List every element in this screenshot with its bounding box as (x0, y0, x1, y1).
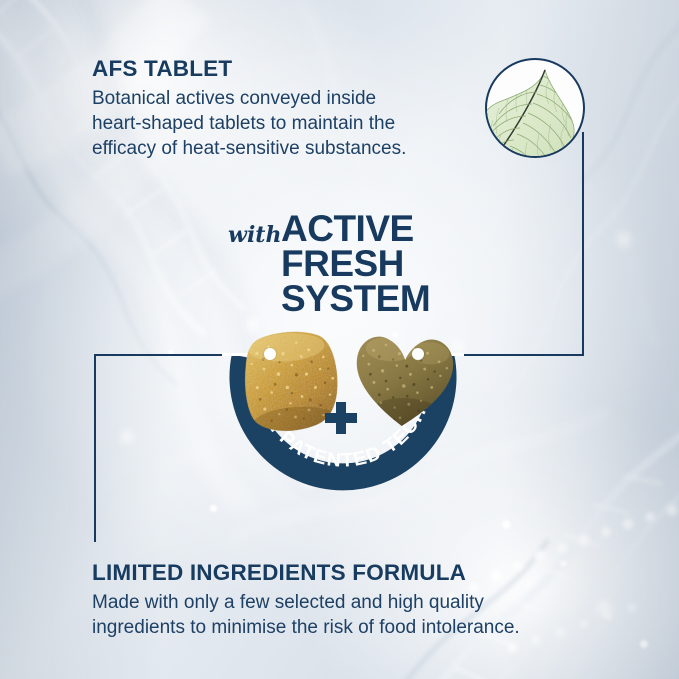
leaf-icon (485, 58, 585, 158)
plus-icon (325, 402, 357, 434)
heart-tablet-icon (352, 330, 456, 434)
leaf-badge (485, 58, 585, 158)
logo-with-word: with (228, 222, 281, 248)
afs-tablet-body-line: efficacy of heat-sensitive substances. (92, 136, 406, 161)
afs-tablet-title: AFS TABLET (92, 56, 232, 82)
connector-dot-square-kibble (264, 348, 276, 360)
connector-line-left-vertical (94, 354, 96, 542)
connector-line-right-vertical (582, 132, 584, 356)
connector-dot-heart-tablet (412, 348, 424, 360)
limited-ingredients-title: LIMITED INGREDIENTS FORMULA (92, 560, 466, 586)
logo-line-active: ACTIVE (281, 211, 430, 246)
afs-tablet-body-line: Botanical actives conveyed inside (92, 86, 406, 111)
afs-tablet-body: Botanical actives conveyed inside heart-… (92, 86, 406, 161)
infographic-canvas: AFS TABLET Botanical actives conveyed in… (0, 0, 679, 679)
limited-ingredients-body-line: ingredients to minimise the risk of food… (92, 615, 520, 640)
limited-ingredients-body-line: Made with only a few selected and high q… (92, 590, 520, 615)
afs-tablet-body-line: heart-shaped tablets to maintain the (92, 111, 406, 136)
limited-ingredients-body: Made with only a few selected and high q… (92, 590, 520, 640)
